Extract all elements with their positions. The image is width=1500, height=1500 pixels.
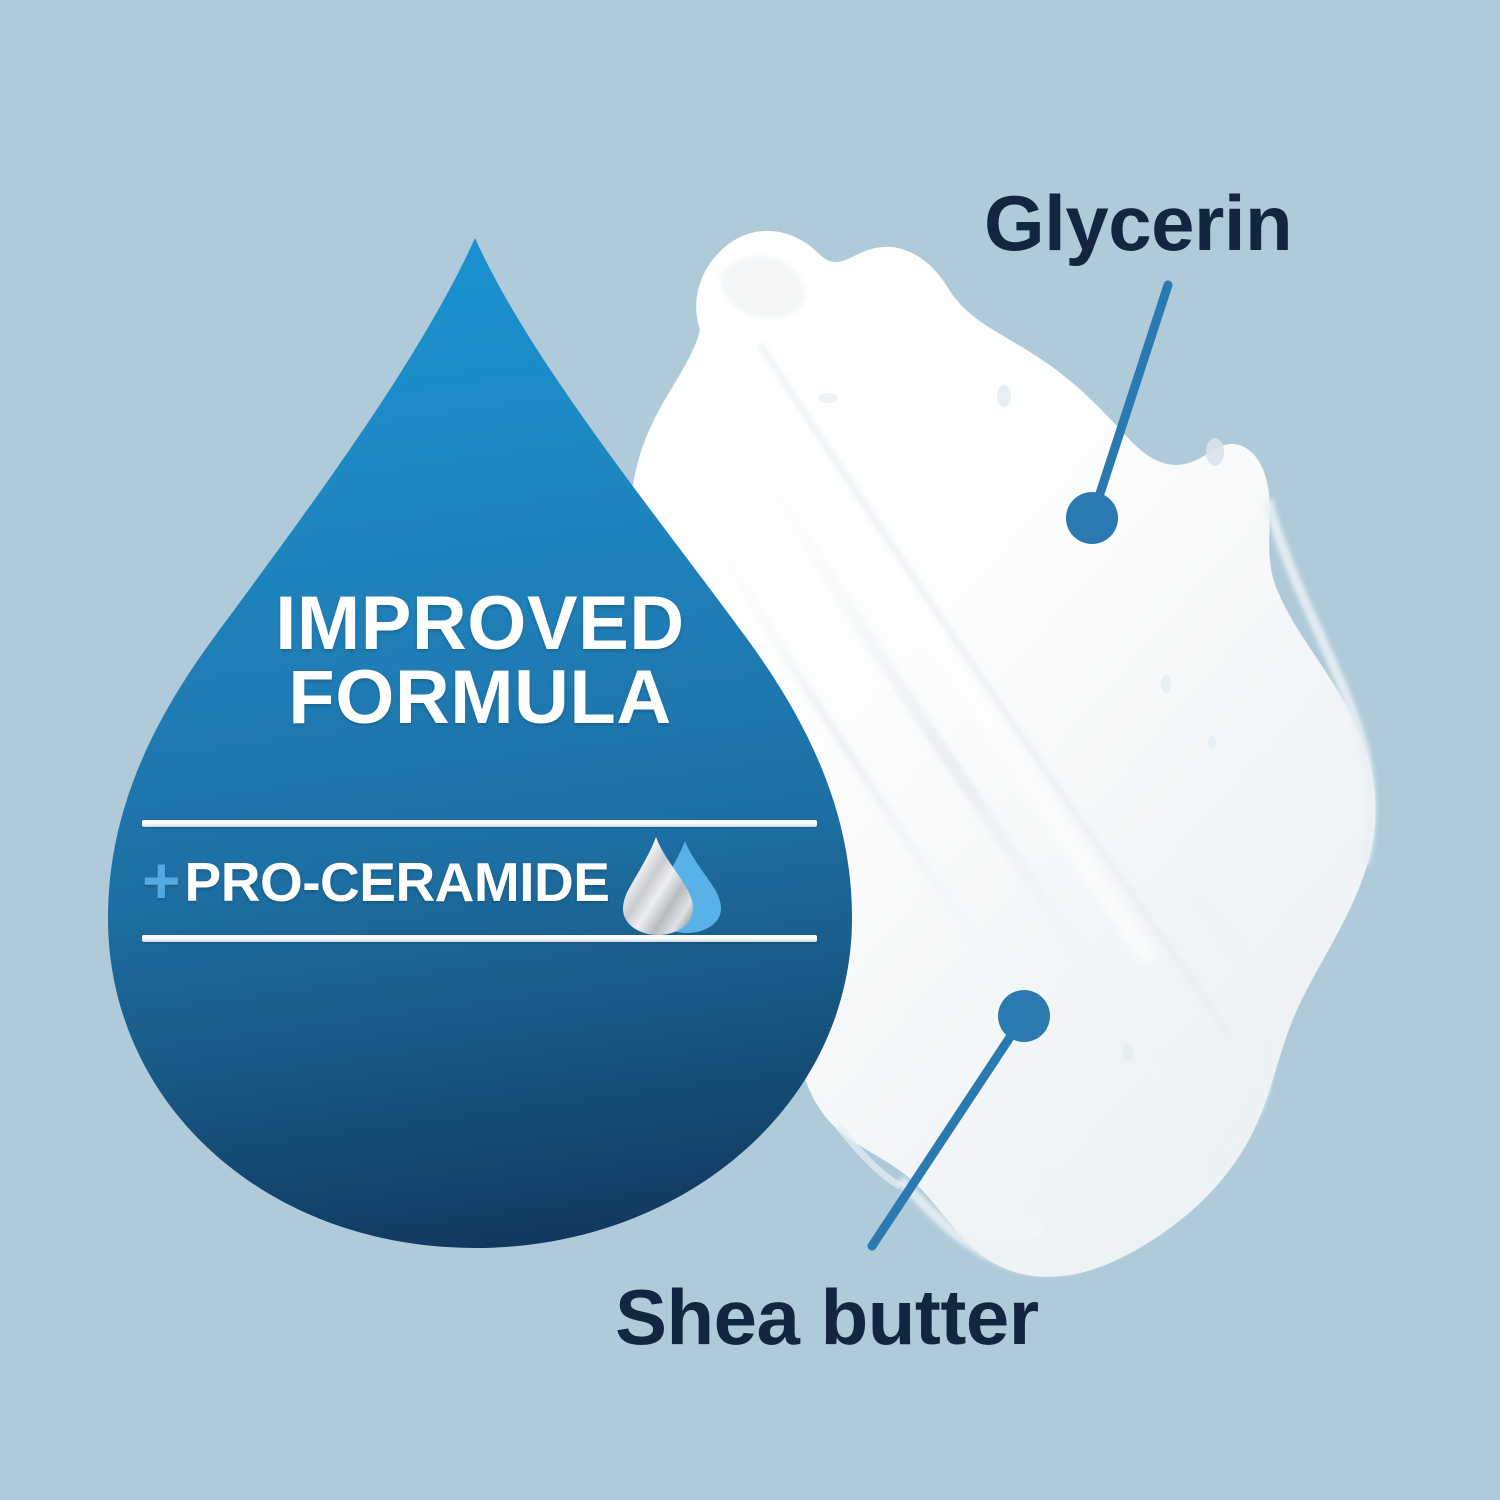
headline-line-1: IMPROVED [155,587,805,661]
glycerin-marker-dot [1066,492,1118,544]
headline-line-2: FORMULA [155,661,805,735]
pro-ceramide-row: + PRO-CERAMIDE [142,832,822,932]
glycerin-leader-line [1092,285,1168,518]
divider-line-top [142,820,817,827]
divider-line-bottom [142,935,817,942]
pro-ceramide-label: PRO-CERAMIDE [185,850,610,914]
shea-butter-leader-line [872,1016,1024,1246]
plus-icon: + [142,847,181,913]
callout-label-shea-butter: Shea butter [615,1272,1039,1363]
badge-content: IMPROVED FORMULA + PRO-CERAMIDE [100,232,860,1254]
improved-formula-badge: IMPROVED FORMULA + PRO-CERAMIDE [100,232,860,1254]
double-droplet-icon [619,831,723,935]
callout-label-glycerin: Glycerin [984,178,1292,269]
badge-headline: IMPROVED FORMULA [155,587,805,736]
product-infographic: IMPROVED FORMULA + PRO-CERAMIDE [0,0,1500,1500]
shea-butter-marker-dot [998,990,1050,1042]
